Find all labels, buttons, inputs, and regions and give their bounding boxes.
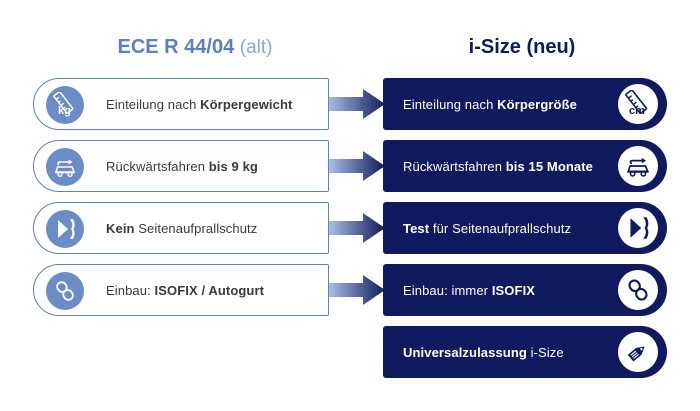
new-standard-card[interactable]: Universalzulassung i-Size [383, 326, 667, 378]
old-label-normal: Rückwärtsfahren [106, 159, 209, 174]
new-standard-label: Test für Seitenaufprallschutz [403, 221, 571, 236]
old-standard-card[interactable]: Einbau: ISOFIX / Autogurt [33, 264, 329, 316]
old-label-normal: Seitenaufprallschutz [135, 221, 258, 236]
old-standard-card[interactable]: kg Einteilung nach Körpergewicht [33, 78, 329, 130]
car-rearward-icon [618, 146, 658, 186]
old-label-normal: Einteilung nach [106, 97, 200, 112]
old-standard-card[interactable]: Kein Seitenaufprallschutz [33, 202, 329, 254]
new-label-normal: für Seitenaufprallschutz [429, 221, 571, 236]
column-header-new: i-Size (neu) [377, 30, 667, 64]
old-standard-card[interactable]: Rückwärtsfahren bis 9 kg [33, 140, 329, 192]
scale-kg-icon: kg [46, 86, 84, 124]
old-label-bold: Kein [106, 221, 135, 236]
old-label-bold: bis 9 kg [209, 159, 258, 174]
old-standard-label: Einbau: ISOFIX / Autogurt [106, 283, 264, 298]
old-standard-label: Einteilung nach Körpergewicht [106, 97, 292, 112]
new-label-normal: Rückwärtsfahren [403, 159, 506, 174]
chain-link-icon [46, 272, 84, 310]
new-label-normal: i-Size [527, 345, 564, 360]
new-label-bold: Universalzulassung [403, 345, 527, 360]
new-standard-card[interactable]: Einteilung nach Körpergröße cm [383, 78, 667, 130]
new-standard-card[interactable]: Test für Seitenaufprallschutz [383, 202, 667, 254]
car-rearward-icon [46, 148, 84, 186]
new-standard-label: Einteilung nach Körpergröße [403, 97, 577, 112]
comparison-row: Kein Seitenaufprallschutz Test für Seite… [0, 202, 700, 254]
price-tag-icon [618, 332, 658, 372]
comparison-infographic: ECE R 44/04 (alt) i-Size (neu) kg [0, 0, 700, 411]
old-standard-label: Rückwärtsfahren bis 9 kg [106, 159, 258, 174]
side-impact-icon [46, 210, 84, 248]
column-header-old: ECE R 44/04 (alt) [30, 30, 360, 65]
new-standard-label: Rückwärtsfahren bis 15 Monate [403, 159, 593, 174]
new-label-normal: Einteilung nach [403, 97, 497, 112]
svg-text:kg: kg [58, 105, 71, 117]
column-headers: ECE R 44/04 (alt) i-Size (neu) [0, 30, 700, 64]
arrow-right-icon [329, 151, 385, 181]
new-standard-card[interactable]: Einbau: immer ISOFIX [383, 264, 667, 316]
arrow-right-icon [329, 89, 385, 119]
column-header-old-main: ECE R 44/04 [117, 36, 234, 58]
ruler-cm-icon: cm [618, 84, 658, 124]
new-label-bold: bis 15 Monate [506, 159, 593, 174]
arrow-right-icon [329, 275, 385, 305]
comparison-row: kg Einteilung nach Körpergewicht Ein [0, 78, 700, 130]
old-label-bold: ISOFIX / Autogurt [155, 283, 265, 298]
old-standard-label: Kein Seitenaufprallschutz [106, 221, 257, 236]
new-standard-card[interactable]: Rückwärtsfahren bis 15 Monate [383, 140, 667, 192]
svg-text:cm: cm [629, 105, 645, 117]
column-header-old-sub: (alt) [240, 37, 273, 58]
arrow-right-icon [329, 213, 385, 243]
comparison-row: Einbau: ISOFIX / Autogurt Einbau: immer … [0, 264, 700, 316]
new-standard-label: Universalzulassung i-Size [403, 345, 564, 360]
new-label-bold: Körpergröße [497, 97, 577, 112]
new-label-bold: Test [403, 221, 429, 236]
side-impact-icon [618, 208, 658, 248]
chain-link-icon [618, 270, 658, 310]
new-label-bold: ISOFIX [492, 283, 535, 298]
old-label-bold: Körpergewicht [200, 97, 292, 112]
old-label-normal: Einbau: [106, 283, 155, 298]
new-label-normal: Einbau: immer [403, 283, 492, 298]
comparison-row: Universalzulassung i-Size [0, 326, 700, 378]
comparison-row: Rückwärtsfahren bis 9 kg Rückwärtsfahren… [0, 140, 700, 192]
new-standard-label: Einbau: immer ISOFIX [403, 283, 535, 298]
